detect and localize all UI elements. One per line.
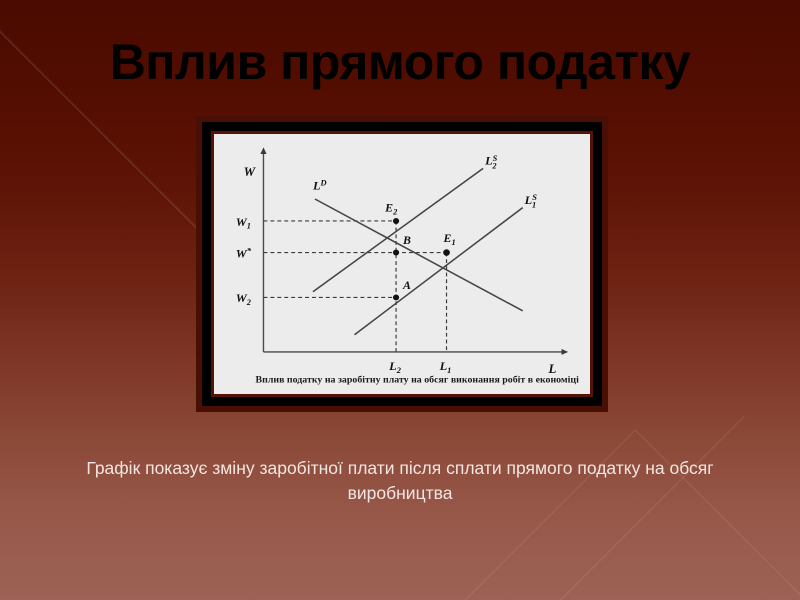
chart-canvas: W L W1 W* W2 L2 L1 LD LS2 LS1 (214, 134, 590, 394)
y-axis-label: W (244, 165, 256, 179)
labour-market-tax-diagram: W L W1 W* W2 L2 L1 LD LS2 LS1 (214, 134, 590, 394)
slide: Вплив прямого податку (0, 0, 800, 600)
curve-labour-supply-1 (355, 208, 523, 335)
point-label-a: A (402, 279, 411, 292)
page-title: Вплив прямого податку (0, 36, 800, 89)
point-label-e2: E2 (384, 202, 397, 217)
marker-a (393, 294, 399, 300)
curve-label-labour-demand: LD (312, 179, 327, 193)
y-tick-w2: W2 (236, 291, 251, 307)
figure-frame-inner-border: W L W1 W* W2 L2 L1 LD LS2 LS1 (211, 131, 593, 397)
figure-frame-black-border: W L W1 W* W2 L2 L1 LD LS2 LS1 (202, 122, 602, 406)
diagonal-accent-bottom-right-1 (402, 429, 636, 600)
y-tick-w1: W1 (236, 215, 251, 231)
chart-point-markers (393, 218, 450, 300)
x-axis-label: L (547, 362, 556, 376)
curve-labour-supply-2 (313, 168, 483, 291)
marker-e2 (393, 218, 399, 224)
chart-curves (313, 168, 523, 334)
curve-label-labour-supply-1: LS1 (524, 193, 538, 210)
figure-caption-wrap: Вплив податку на заробітну плату на обся… (222, 375, 582, 394)
marker-b (393, 250, 399, 256)
curve-label-labour-supply-2: LS2 (484, 154, 498, 171)
slide-body-text: Графік показує зміну заробітної плати пі… (0, 456, 800, 507)
y-tick-wstar: W* (236, 246, 252, 261)
x-tick-l1: L1 (439, 359, 452, 375)
point-label-b: B (402, 234, 411, 247)
point-label-e1: E1 (443, 232, 456, 247)
figure-caption: Вплив податку на заробітну плату на обся… (222, 375, 582, 387)
diagonal-accent-bottom-right-3 (560, 416, 745, 600)
x-tick-l2: L2 (388, 359, 401, 375)
figure-frame: W L W1 W* W2 L2 L1 LD LS2 LS1 (196, 116, 608, 412)
marker-e1 (443, 249, 450, 256)
